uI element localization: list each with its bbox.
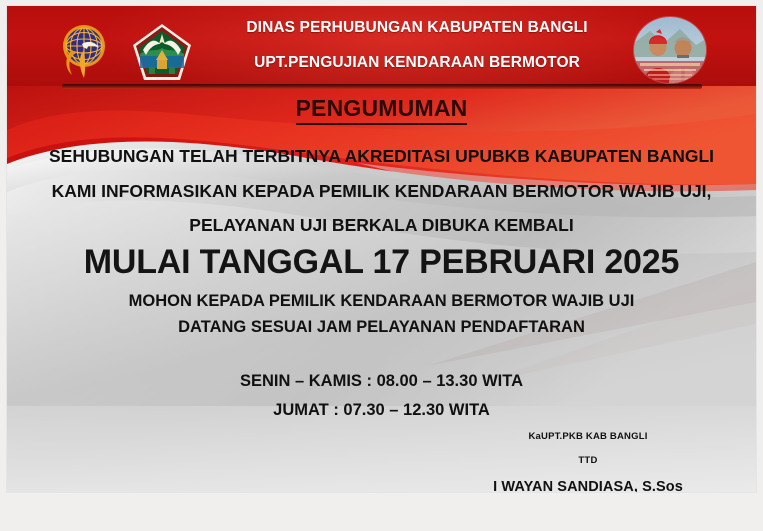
signature-name: I WAYAN SANDIASA, S.Sos (438, 479, 738, 492)
signature-block: KaUPT.PKB KAB BANGLI TTD I WAYAN SANDIAS… (438, 431, 738, 492)
schedule-weekday: SENIN – KAMIS : 08.00 – 13.30 WITA (7, 372, 756, 391)
headline-start-date: MULAI TANGGAL 17 PEBRUARI 2025 (7, 243, 756, 282)
announcement-poster: DINAS PERHUBUNGAN KABUPATEN BANGLI UPT.P… (7, 6, 756, 492)
poster-content: PENGUMUMAN SEHUBUNGAN TELAH TERBITNYA AK… (7, 6, 756, 492)
page-title: PENGUMUMAN (7, 95, 756, 122)
page-title-text: PENGUMUMAN (296, 95, 468, 125)
signature-role: KaUPT.PKB KAB BANGLI (438, 431, 738, 442)
body-line-pelayanan: PELAYANAN UJI BERKALA DIBUKA KEMBALI (7, 215, 756, 236)
body-line-datang: DATANG SESUAI JAM PELAYANAN PENDAFTARAN (7, 318, 756, 337)
body-line-akreditasi: SEHUBUNGAN TELAH TERBITNYA AKREDITASI UP… (7, 146, 756, 167)
screenshot-canvas: DINAS PERHUBUNGAN KABUPATEN BANGLI UPT.P… (0, 0, 763, 531)
body-line-informasi: KAMI INFORMASIKAN KEPADA PEMILIK KENDARA… (7, 181, 756, 202)
schedule-friday: JUMAT : 07.30 – 12.30 WITA (7, 401, 756, 420)
body-line-mohon: MOHON KEPADA PEMILIK KENDARAAN BERMOTOR … (7, 292, 756, 311)
signature-ttd-label: TTD (438, 455, 738, 466)
